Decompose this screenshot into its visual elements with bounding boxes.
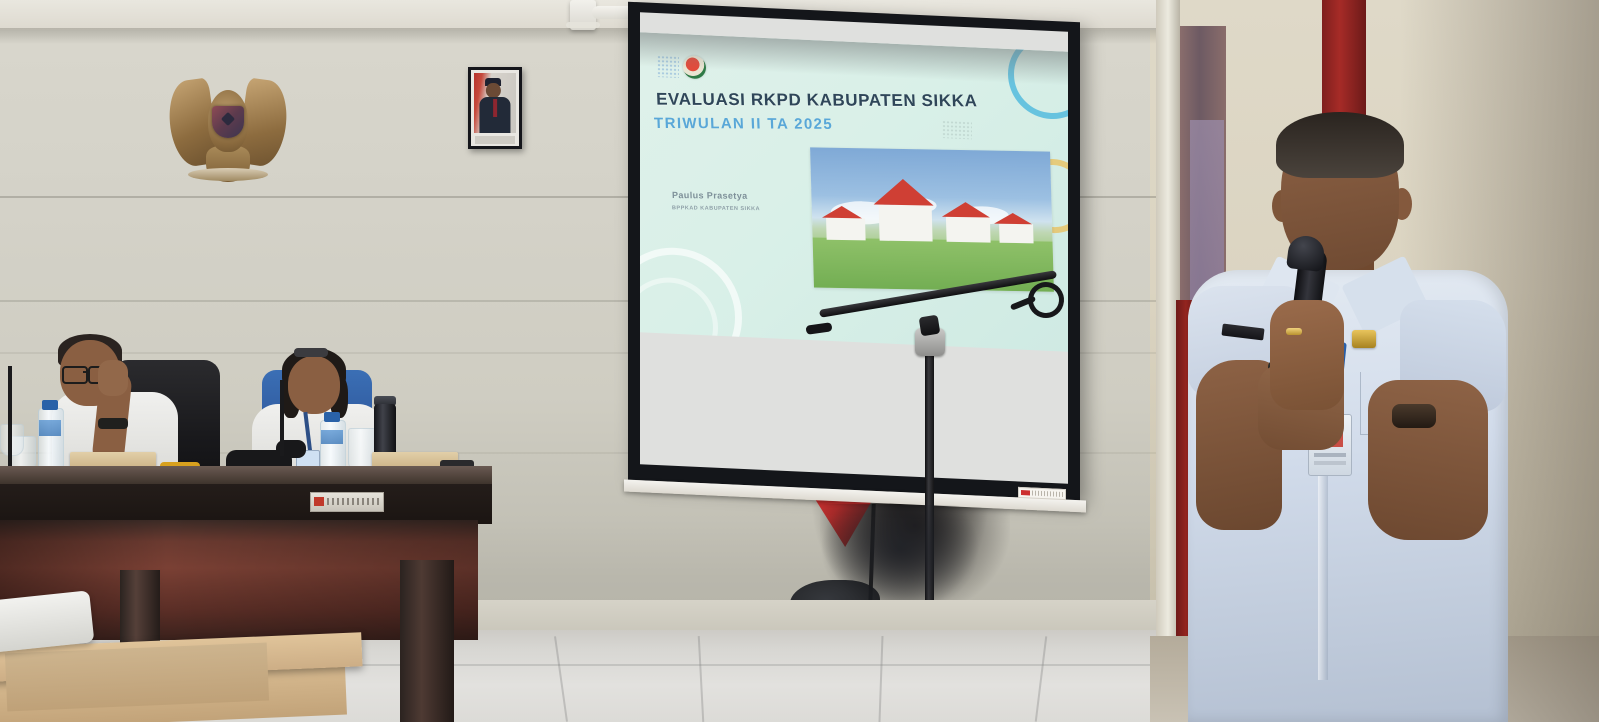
table-nameplate-badge xyxy=(310,492,384,512)
mic-boom-knob[interactable] xyxy=(919,315,941,337)
eyeglasses-icon xyxy=(62,366,88,384)
speaker-hair xyxy=(1276,112,1404,178)
desk-microphone-gooseneck xyxy=(8,366,12,466)
slide-subtitle: TRIWULAN II TA 2025 xyxy=(654,115,954,134)
garuda-pancasila-emblem xyxy=(168,72,288,192)
sunglasses-on-head-icon xyxy=(294,348,328,357)
slide-title: EVALUASI RKPD KABUPATEN SIKKA xyxy=(656,90,987,112)
ceiling-pipe xyxy=(566,22,600,28)
screen-brand-label xyxy=(1018,487,1066,500)
eyeglasses-bridge xyxy=(83,371,90,373)
slide-author: Paulus Prasetya xyxy=(672,190,748,201)
slide-author-org: BPPKAD KABUPATEN SIKKA xyxy=(672,205,760,212)
bottle-cap xyxy=(324,412,340,422)
conference-table-top xyxy=(0,466,492,486)
bottle-label xyxy=(321,430,343,444)
bottle-label xyxy=(39,420,61,436)
finger-ring-icon xyxy=(1286,328,1302,335)
screen-surface: EVALUASI RKPD KABUPATEN SIKKA TRIWULAN I… xyxy=(640,12,1068,483)
drinking-glass xyxy=(0,424,24,456)
projection-screen: EVALUASI RKPD KABUPATEN SIKKA TRIWULAN I… xyxy=(620,4,1090,504)
bottle-cap xyxy=(42,400,58,410)
meeting-room-photo: EVALUASI RKPD KABUPATEN SIKKA TRIWULAN I… xyxy=(0,0,1599,722)
water-bottle xyxy=(38,408,64,472)
wristwatch-icon xyxy=(1392,404,1436,428)
foreground-desk-inset xyxy=(5,643,269,712)
desk-microphone-gooseneck xyxy=(280,380,284,456)
speaker-hand-left xyxy=(1270,300,1344,410)
official-portrait xyxy=(468,67,522,149)
conference-table-edge xyxy=(0,484,492,524)
seated-woman-head xyxy=(288,356,340,414)
screen-frame: EVALUASI RKPD KABUPATEN SIKKA TRIWULAN I… xyxy=(628,2,1080,501)
slide-photo xyxy=(810,147,1054,291)
gold-insignia-pin-icon xyxy=(1352,330,1376,348)
water-bottle xyxy=(320,420,346,472)
seated-man-hand xyxy=(98,360,128,396)
wristwatch-icon xyxy=(98,418,128,429)
table-leg xyxy=(400,560,454,722)
